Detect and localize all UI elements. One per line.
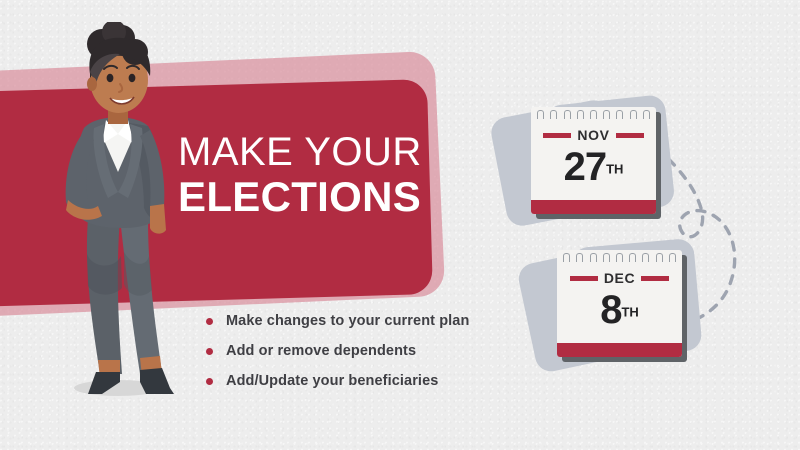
calendar-day-row: 8TH: [557, 288, 682, 333]
list-item-label: Add/Update your beneficiaries: [226, 373, 438, 389]
spiral-ring-icon: [630, 110, 637, 119]
title-block: MAKE YOUR ELECTIONS: [178, 132, 422, 219]
calendar-day-number: 27: [564, 145, 607, 189]
list-item: Add or remove dependents: [206, 343, 469, 359]
spiral-rings: [531, 110, 656, 119]
list-item-label: Add or remove dependents: [226, 343, 416, 359]
calendar-card-nov: NOV 27TH: [498, 100, 673, 225]
spiral-ring-icon: [629, 253, 636, 262]
calendar-month-row: DEC: [557, 270, 682, 286]
spiral-ring-icon: [590, 110, 597, 119]
calendar-month-row: NOV: [531, 127, 656, 143]
spiral-ring-icon: [603, 110, 610, 119]
bullet-dot-icon: [206, 348, 213, 355]
calendar-month-label: DEC: [604, 270, 635, 286]
title-line-1: MAKE YOUR: [178, 132, 422, 173]
spiral-ring-icon: [603, 253, 610, 262]
list-item: Add/Update your beneficiaries: [206, 373, 469, 389]
calendar-footer-bar: [531, 200, 656, 214]
spiral-ring-icon: [642, 253, 649, 262]
calendar-paper: NOV 27TH: [531, 107, 656, 214]
spiral-ring-icon: [643, 110, 650, 119]
month-rule-left: [543, 133, 571, 138]
spiral-rings: [557, 253, 682, 262]
spiral-ring-icon: [564, 110, 571, 119]
calendar-month-label: NOV: [577, 127, 609, 143]
spiral-ring-icon: [616, 110, 623, 119]
calendar-day-row: 27TH: [531, 145, 656, 190]
calendar-day-number: 8: [600, 288, 621, 332]
calendar-day-suffix: TH: [621, 305, 638, 320]
month-rule-left: [570, 276, 598, 281]
month-rule-right: [641, 276, 669, 281]
calendar-day-suffix: TH: [606, 162, 623, 177]
spiral-ring-icon: [590, 253, 597, 262]
spiral-ring-icon: [616, 253, 623, 262]
title-line-2: ELECTIONS: [178, 175, 422, 219]
spiral-ring-icon: [563, 253, 570, 262]
month-rule-right: [616, 133, 644, 138]
slide-canvas: NOV 27TH: [0, 0, 800, 450]
bullet-list: Make changes to your current plan Add or…: [206, 313, 469, 403]
spiral-ring-icon: [669, 253, 676, 262]
list-item: Make changes to your current plan: [206, 313, 469, 329]
list-item-label: Make changes to your current plan: [226, 313, 469, 329]
calendar-card-dec: DEC 8TH: [526, 243, 701, 368]
calendar-paper: DEC 8TH: [557, 250, 682, 357]
spiral-ring-icon: [656, 253, 663, 262]
spiral-ring-icon: [577, 110, 584, 119]
spiral-ring-icon: [576, 253, 583, 262]
person-illustration: [40, 22, 190, 407]
spiral-ring-icon: [537, 110, 544, 119]
calendar-footer-bar: [557, 343, 682, 357]
bullet-dot-icon: [206, 318, 213, 325]
bullet-dot-icon: [206, 378, 213, 385]
spiral-ring-icon: [550, 110, 557, 119]
